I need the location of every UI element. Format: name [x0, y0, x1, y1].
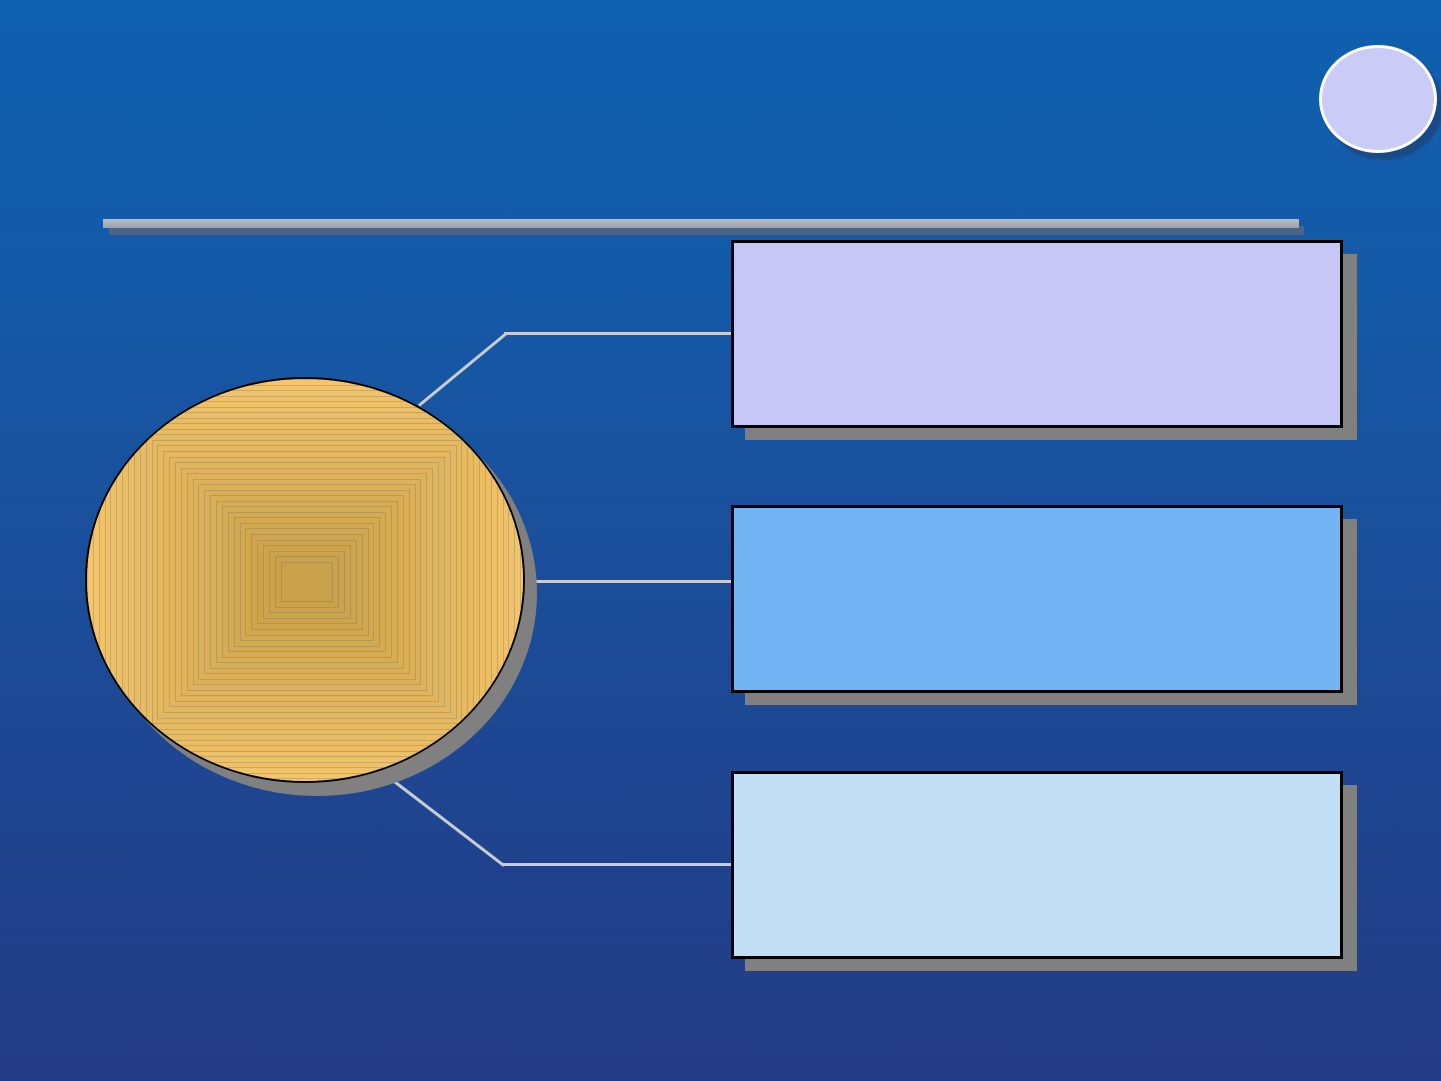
slide-canvas — [0, 0, 1441, 1081]
hub-circle[interactable] — [85, 377, 525, 783]
connector-middle-horizontal — [528, 580, 736, 583]
content-box-1[interactable] — [731, 240, 1343, 428]
content-box-3[interactable] — [731, 771, 1343, 959]
title-divider-bar — [103, 219, 1299, 228]
content-box-2[interactable] — [731, 505, 1343, 693]
content-box-3-label — [734, 774, 1340, 806]
content-box-2-label — [734, 508, 1340, 540]
content-box-1-label — [734, 243, 1340, 275]
hub-gradient-rings — [87, 379, 523, 781]
connector-top-horizontal — [504, 332, 736, 335]
connector-bottom-horizontal — [503, 863, 736, 866]
corner-accent-circle — [1319, 45, 1437, 153]
connector-bottom-diagonal — [392, 779, 505, 867]
